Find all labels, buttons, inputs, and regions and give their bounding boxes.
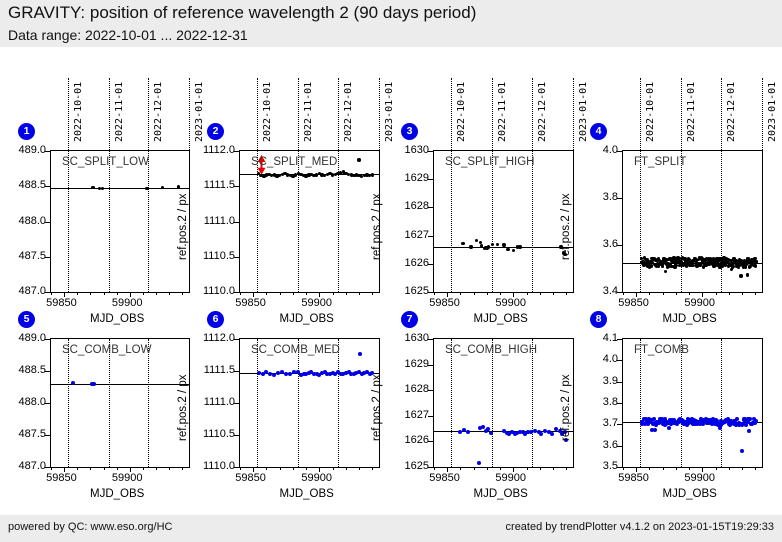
y-tick-label: 1625 — [385, 460, 429, 472]
x-axis-title-6: MJD_OBS — [280, 488, 334, 500]
data-point — [563, 430, 567, 434]
date-gridline-extension — [532, 78, 533, 150]
date-gridline-extension — [492, 78, 493, 150]
gridline-2022-11-01 — [298, 339, 299, 467]
data-point — [257, 371, 261, 375]
x-tick-label: 59900 — [684, 297, 715, 309]
y-tick-label: 3.8 — [574, 191, 618, 203]
data-point — [533, 429, 537, 433]
y-tick-label: 487.0 — [2, 460, 46, 472]
y-tick-label: 1627 — [385, 229, 429, 241]
date-gridline-extension — [148, 78, 149, 150]
date-tick-label: 2022-11-01 — [497, 82, 508, 142]
data-point — [563, 253, 566, 256]
gridline-2022-10-01 — [68, 339, 69, 467]
data-point — [469, 245, 472, 248]
data-point — [371, 173, 374, 176]
gridline-2022-11-01 — [109, 339, 110, 467]
y-tick-label: 3.5 — [574, 460, 618, 472]
plot-area-8[interactable] — [622, 338, 763, 468]
y-tick-label: 1630 — [385, 144, 429, 156]
x-tick-label: 59850 — [429, 472, 460, 484]
panel-badge-1: 1 — [18, 123, 35, 140]
footer-generator: created by trendPlotter v4.1.2 on 2023-0… — [506, 521, 774, 533]
y-tick-label: 1111.0 — [191, 215, 235, 227]
y-tick-label: 488.0 — [2, 396, 46, 408]
data-point — [475, 239, 478, 242]
data-point — [518, 245, 521, 248]
gridline-2022-11-01 — [681, 339, 682, 467]
gridline-2022-10-01 — [257, 339, 258, 467]
y-tick-label: 488.5 — [2, 364, 46, 376]
y-tick-label: 1110.0 — [191, 460, 235, 472]
header-bar: GRAVITY: position of reference wavelengt… — [0, 0, 782, 47]
plot-area-3[interactable] — [433, 150, 574, 293]
plot-area-2[interactable] — [239, 150, 380, 293]
data-point — [101, 187, 104, 190]
x-axis-title-2: MJD_OBS — [280, 313, 334, 325]
x-axis-title-1: MJD_OBS — [90, 313, 144, 325]
gridline-2023-01-01 — [762, 151, 763, 292]
gridline-2022-10-01 — [68, 151, 69, 292]
plot-area-4[interactable] — [622, 150, 763, 293]
data-point — [491, 243, 494, 246]
x-tick-label: 59900 — [112, 472, 143, 484]
y-tick-label: 1630 — [385, 332, 429, 344]
gridline-2022-10-01 — [640, 151, 641, 292]
annotation-arrow[interactable] — [256, 155, 267, 175]
gridline-2022-12-01 — [532, 151, 533, 292]
x-tick-label: 59900 — [495, 472, 526, 484]
y-tick-label: 1110.0 — [191, 285, 235, 297]
gridline-2022-12-01 — [721, 339, 722, 467]
date-tick-label: 2023-01-01 — [194, 82, 205, 142]
data-point — [496, 243, 499, 246]
data-point — [559, 245, 562, 248]
gridline-2022-10-01 — [451, 151, 452, 292]
gridline-2022-10-01 — [451, 339, 452, 467]
x-tick-label: 59850 — [235, 472, 266, 484]
y-tick-label: 1110.5 — [191, 428, 235, 440]
gridline-2023-01-01 — [762, 339, 763, 467]
y-tick-label: 3.4 — [574, 285, 618, 297]
x-tick-label: 59850 — [618, 297, 649, 309]
gridline-2022-10-01 — [640, 339, 641, 467]
data-point — [550, 432, 554, 436]
gridline-2022-12-01 — [148, 339, 149, 467]
y-tick-label: 1628 — [385, 383, 429, 395]
date-tick-label: 2022-10-01 — [262, 82, 273, 142]
y-tick-label: 4.0 — [574, 353, 618, 365]
y-tick-label: 1629 — [385, 358, 429, 370]
x-tick-label: 59850 — [618, 472, 649, 484]
data-point — [461, 242, 464, 245]
footer-credit: powered by QC: www.eso.org/HC — [8, 521, 172, 533]
y-tick-label: 1111.0 — [191, 396, 235, 408]
outlier-point — [653, 428, 657, 432]
outlier-point — [358, 352, 362, 356]
x-axis-title-4: MJD_OBS — [663, 313, 717, 325]
data-point — [91, 186, 94, 189]
gridline-2023-01-01 — [379, 339, 380, 467]
panel-badge-2: 2 — [207, 123, 224, 140]
y-tick-label: 1110.5 — [191, 250, 235, 262]
date-tick-label: 2022-10-01 — [73, 82, 84, 142]
date-gridline-extension — [721, 78, 722, 150]
date-gridline-extension — [189, 78, 190, 150]
data-point — [502, 243, 505, 246]
y-tick-label: 1628 — [385, 200, 429, 212]
y-tick-label: 1625 — [385, 285, 429, 297]
footer-bar: powered by QC: www.eso.org/HC created by… — [0, 515, 782, 542]
x-axis-title-7: MJD_OBS — [474, 488, 528, 500]
date-tick-label: 2022-11-01 — [114, 82, 125, 142]
reference-line — [434, 247, 573, 248]
outlier-point — [357, 158, 360, 161]
gridline-2022-12-01 — [148, 151, 149, 292]
y-tick-label: 487.0 — [2, 285, 46, 297]
data-point — [466, 430, 470, 434]
gridline-2023-01-01 — [189, 151, 190, 292]
reference-line — [51, 188, 189, 189]
plot-area-6[interactable] — [239, 338, 380, 468]
x-tick-label: 59850 — [46, 472, 77, 484]
date-tick-label: 2022-12-01 — [153, 82, 164, 142]
y-tick-label: 487.5 — [2, 250, 46, 262]
data-point — [754, 419, 758, 423]
x-tick-label: 59900 — [112, 297, 143, 309]
data-point — [754, 264, 757, 267]
x-axis-title-3: MJD_OBS — [474, 313, 528, 325]
x-tick-label: 59900 — [495, 297, 526, 309]
data-point — [512, 249, 515, 252]
data-point — [487, 245, 490, 248]
outlier-point — [739, 274, 742, 277]
gridline-2022-11-01 — [681, 151, 682, 292]
y-tick-label: 1627 — [385, 409, 429, 421]
outlier-point — [730, 268, 733, 271]
x-tick-label: 59900 — [684, 472, 715, 484]
panel-badge-6: 6 — [207, 311, 224, 328]
date-gridline-extension — [640, 78, 641, 150]
data-point — [486, 427, 490, 431]
x-axis-title-8: MJD_OBS — [663, 488, 717, 500]
date-tick-label: 2022-10-01 — [456, 82, 467, 142]
date-gridline-extension — [379, 78, 380, 150]
gridline-2022-11-01 — [492, 339, 493, 467]
y-tick-label: 3.8 — [574, 396, 618, 408]
gridline-2022-11-01 — [492, 151, 493, 292]
y-tick-label: 489.0 — [2, 332, 46, 344]
y-tick-label: 489.0 — [2, 144, 46, 156]
y-tick-label: 1111.5 — [191, 364, 235, 376]
date-gridline-extension — [109, 78, 110, 150]
gridline-2023-01-01 — [379, 151, 380, 292]
date-tick-label: 2022-12-01 — [537, 82, 548, 142]
outlier-point — [477, 461, 481, 465]
y-tick-label: 1626 — [385, 257, 429, 269]
date-gridline-extension — [681, 78, 682, 150]
date-gridline-extension — [68, 78, 69, 150]
x-axis-title-5: MJD_OBS — [90, 488, 144, 500]
date-tick-label: 2022-12-01 — [726, 82, 737, 142]
date-tick-label: 2023-01-01 — [384, 82, 395, 142]
y-tick-label: 3.9 — [574, 375, 618, 387]
panel-badge-5: 5 — [18, 311, 35, 328]
date-tick-label: 2022-10-01 — [645, 82, 656, 142]
panel-badge-4: 4 — [590, 123, 607, 140]
outlier-point — [747, 429, 751, 433]
date-tick-label: 2022-11-01 — [303, 82, 314, 142]
page-subtitle: Data range: 2022-10-01 ... 2022-12-31 — [8, 27, 248, 43]
x-tick-label: 59850 — [429, 297, 460, 309]
outlier-point — [740, 449, 744, 453]
data-point — [506, 248, 509, 251]
data-point — [177, 185, 180, 188]
date-tick-label: 2022-11-01 — [686, 82, 697, 142]
gridline-2022-12-01 — [532, 339, 533, 467]
y-tick-label: 1112.0 — [191, 144, 235, 156]
y-tick-label: 4.0 — [574, 144, 618, 156]
date-gridline-extension — [573, 78, 574, 150]
date-gridline-extension — [338, 78, 339, 150]
outlier-point — [667, 426, 671, 430]
x-tick-label: 59900 — [301, 472, 332, 484]
panel-badge-8: 8 — [590, 311, 607, 328]
y-tick-label: 3.7 — [574, 417, 618, 429]
date-gridline-extension — [298, 78, 299, 150]
data-point — [161, 186, 164, 189]
plot-area-7[interactable] — [433, 338, 574, 468]
gridline-2023-01-01 — [573, 151, 574, 292]
gridline-2022-11-01 — [109, 151, 110, 292]
outlier-point — [664, 270, 667, 273]
gridline-2022-12-01 — [338, 339, 339, 467]
y-tick-label: 1626 — [385, 434, 429, 446]
gridline-2023-01-01 — [573, 339, 574, 467]
y-tick-label: 3.6 — [574, 238, 618, 250]
date-tick-label: 2023-01-01 — [578, 82, 589, 142]
data-point — [145, 187, 148, 190]
date-tick-label: 2023-01-01 — [767, 82, 778, 142]
data-point — [564, 438, 568, 442]
panel-badge-7: 7 — [401, 311, 418, 328]
panel-badge-3: 3 — [401, 123, 418, 140]
data-point — [92, 382, 96, 386]
y-tick-label: 487.5 — [2, 428, 46, 440]
date-gridline-extension — [762, 78, 763, 150]
outlier-point — [746, 273, 749, 276]
gridline-2022-12-01 — [721, 151, 722, 292]
plot-area-1[interactable] — [50, 150, 190, 293]
y-tick-label: 1111.5 — [191, 179, 235, 191]
x-tick-label: 59900 — [301, 297, 332, 309]
plot-area-5[interactable] — [50, 338, 190, 468]
page-title: GRAVITY: position of reference wavelengt… — [8, 3, 476, 23]
y-tick-label: 488.0 — [2, 215, 46, 227]
x-tick-label: 59850 — [46, 297, 77, 309]
date-gridline-extension — [451, 78, 452, 150]
y-tick-label: 488.5 — [2, 179, 46, 191]
y-tick-label: 3.6 — [574, 439, 618, 451]
outlier-point — [718, 426, 722, 430]
x-tick-label: 59850 — [235, 297, 266, 309]
gridline-2023-01-01 — [189, 339, 190, 467]
y-tick-label: 1629 — [385, 172, 429, 184]
y-tick-label: 1112.0 — [191, 332, 235, 344]
date-gridline-extension — [257, 78, 258, 150]
data-point — [370, 371, 374, 375]
y-tick-label: 4.1 — [574, 332, 618, 344]
date-tick-label: 2022-12-01 — [343, 82, 354, 142]
